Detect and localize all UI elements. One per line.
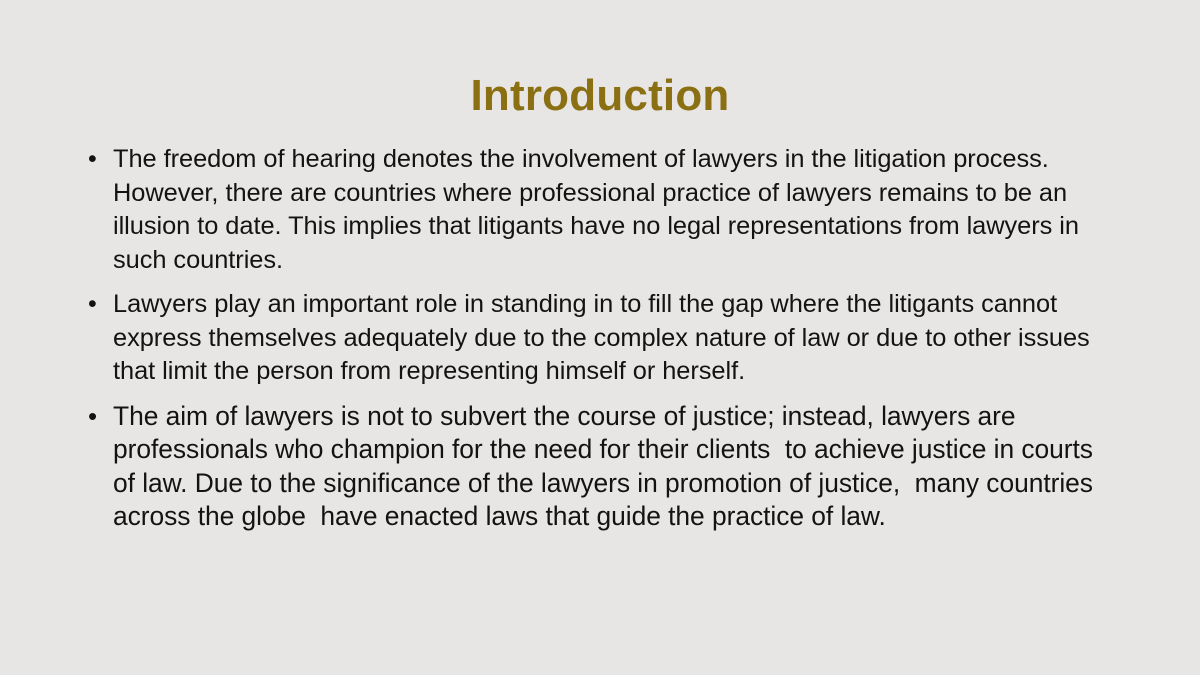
list-item-text: The aim of lawyers is not to subvert the… [113,400,1118,534]
page-title: Introduction [0,72,1200,120]
slide-canvas: Introduction • The freedom of hearing de… [0,0,1200,675]
bullet-point-icon: • [88,143,113,177]
list-item: • The freedom of hearing denotes the inv… [88,143,1118,277]
list-item: • The aim of lawyers is not to subvert t… [88,400,1118,534]
slide-body: • The freedom of hearing denotes the inv… [88,143,1118,545]
list-item-text: The freedom of hearing denotes the invol… [113,143,1118,277]
bullet-point-icon: • [88,400,113,434]
bullet-point-icon: • [88,288,113,322]
list-item: • Lawyers play an important role in stan… [88,288,1118,389]
list-item-text: Lawyers play an important role in standi… [113,288,1118,389]
